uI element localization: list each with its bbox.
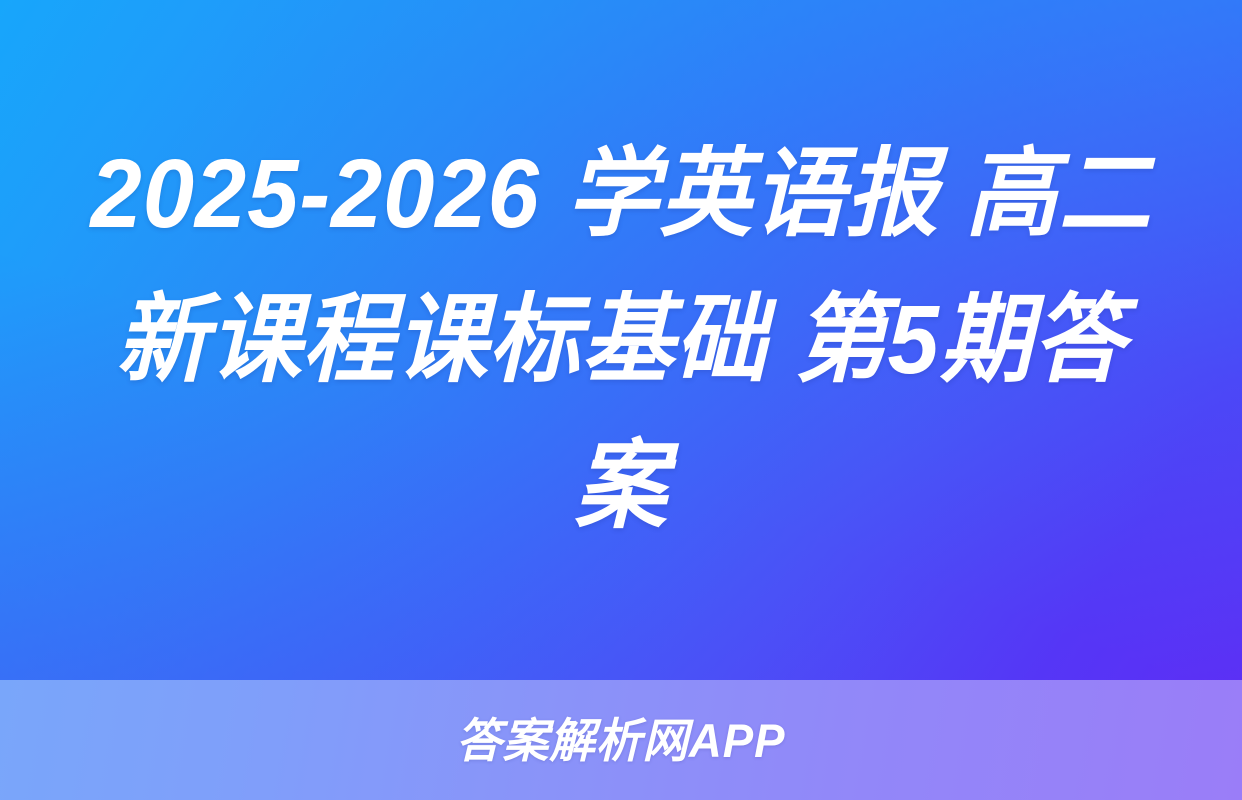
app-watermark-banner: 答案解析网APP: [0, 680, 1242, 800]
page-title: 2025-2026 学英语报 高二 新课程课标基础 第5期答案: [84, 121, 1158, 559]
headline-container: 2025-2026 学英语报 高二 新课程课标基础 第5期答案: [0, 0, 1242, 680]
poster-image: 2025-2026 学英语报 高二 新课程课标基础 第5期答案 答案解析网APP: [0, 0, 1242, 800]
app-watermark-label: 答案解析网APP: [456, 717, 785, 764]
